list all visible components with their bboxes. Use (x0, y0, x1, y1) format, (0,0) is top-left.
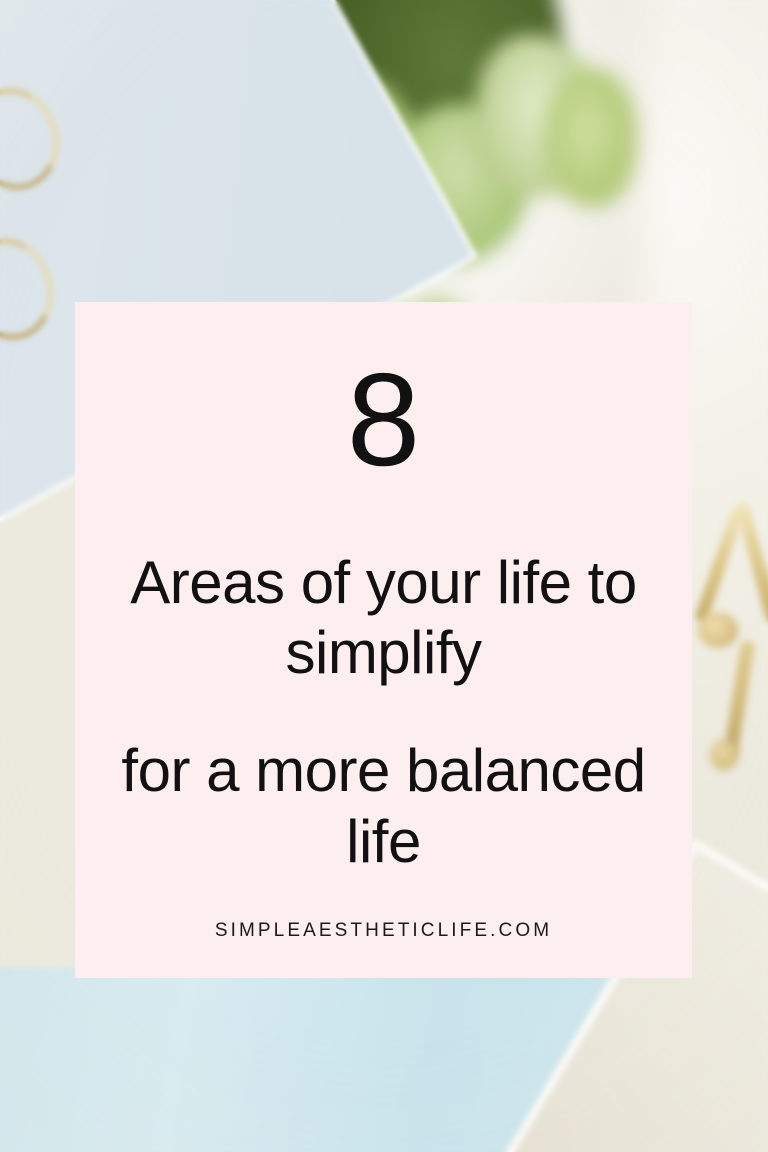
headline-secondary: for a more balanced life (109, 736, 658, 876)
pin-graphic: 8 Areas of your life to simplify for a m… (0, 0, 768, 1152)
site-url: SIMPLEAESTHETICLIFE.COM (215, 920, 552, 942)
text-card: 8 Areas of your life to simplify for a m… (75, 302, 692, 978)
scissors-icon (698, 612, 738, 648)
headline-primary: Areas of your life to simplify (109, 548, 658, 688)
count-number: 8 (347, 354, 420, 486)
plant-leaf-icon (545, 69, 637, 207)
scissors-icon (710, 740, 738, 770)
